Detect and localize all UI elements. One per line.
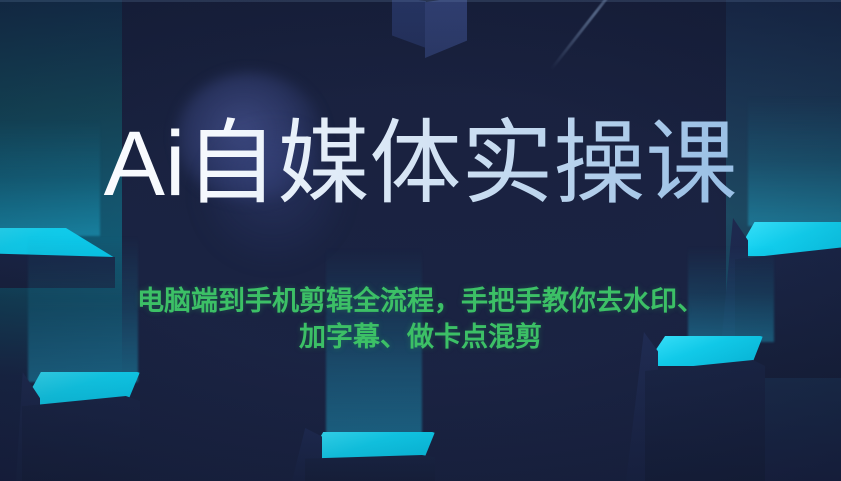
- top-edge-highlight: [0, 0, 841, 2]
- block-right-lower-body: [645, 360, 765, 481]
- banner-subtitle: 电脑端到手机剪辑全流程，手把手教你去水印、 加字幕、做卡点混剪: [0, 283, 841, 355]
- banner-title: Ai自媒体实操课: [0, 112, 841, 216]
- floating-cube-left-face: [392, 0, 426, 48]
- block-left-lower-body: [22, 396, 140, 481]
- banner-subtitle-line-2: 加字幕、做卡点混剪: [0, 319, 841, 355]
- block-center-lower-body: [305, 455, 435, 481]
- course-banner: Ai自媒体实操课 电脑端到手机剪辑全流程，手把手教你去水印、 加字幕、做卡点混剪: [0, 0, 841, 481]
- floating-cube-decoration: [392, 0, 482, 76]
- floating-cube-right-face: [425, 0, 467, 58]
- banner-subtitle-line-1: 电脑端到手机剪辑全流程，手把手教你去水印、: [0, 283, 841, 319]
